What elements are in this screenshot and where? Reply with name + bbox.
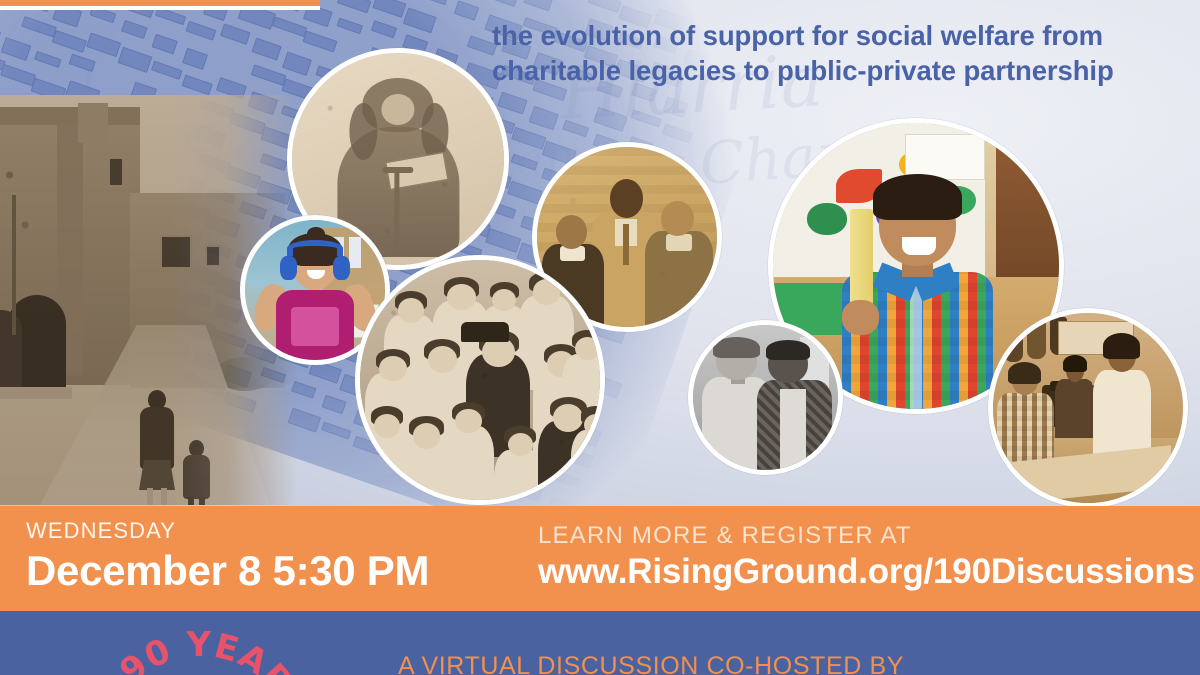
film-grain (360, 260, 600, 500)
event-details-banner: WEDNESDAY December 8 5:30 PM LEARN MORE … (0, 506, 1200, 611)
childrens-artwork (807, 203, 847, 234)
person-hair (1063, 355, 1087, 372)
shirt-graphic (291, 307, 339, 346)
boy-smile (902, 237, 936, 254)
hanging-garment (1004, 317, 1023, 363)
registration-block[interactable]: LEARN MORE & REGISTER AT www.RisingGroun… (538, 524, 1195, 592)
headphones-band-icon (287, 240, 343, 257)
headline-line-2: charitable legacies to public-private pa… (492, 53, 1192, 88)
vintage-group-photo (355, 255, 605, 505)
two-women-portrait-photo (688, 320, 843, 475)
register-label: LEARN MORE & REGISTER AT (538, 524, 1195, 548)
headphone-earcup (280, 256, 297, 280)
svg-text:190 YEARS: 190 YEARS (105, 625, 295, 675)
wall-paper-sheet (905, 134, 985, 180)
top-accent-rule-underline (0, 6, 320, 10)
photo-inner (993, 313, 1183, 503)
logo-arc-text: 190 YEARS (105, 622, 295, 675)
event-date-block: WEDNESDAY December 8 5:30 PM (26, 520, 429, 593)
photo-inner (360, 260, 600, 500)
boy-hand (842, 300, 879, 334)
person-hair (1103, 333, 1141, 359)
event-day-label: WEDNESDAY (26, 520, 429, 542)
person-body (1055, 379, 1093, 442)
headphone-earcup (333, 256, 350, 280)
event-date-time: December 8 5:30 PM (26, 548, 429, 593)
child-hair-bun (307, 227, 325, 241)
hanging-garment (1027, 317, 1046, 359)
grayscale-overlay (693, 325, 838, 470)
cohost-label: A VIRTUAL DISCUSSION CO-HOSTED BY (398, 652, 904, 675)
headline-line-1: the evolution of support for social welf… (492, 18, 1192, 53)
page-title: the evolution of support for social welf… (492, 18, 1192, 88)
anniversary-logo: 190 YEARS (105, 622, 295, 675)
boy-hair (873, 174, 962, 220)
registration-url[interactable]: www.RisingGround.org/190Discussions (538, 553, 1195, 592)
person-background (1054, 359, 1096, 443)
photo-inner (693, 325, 838, 470)
sewing-workshop-photo (988, 308, 1188, 508)
poster-canvas: aud Hlarria Chap Lillian Sutton achan (0, 0, 1200, 675)
person-hair (1008, 362, 1041, 384)
